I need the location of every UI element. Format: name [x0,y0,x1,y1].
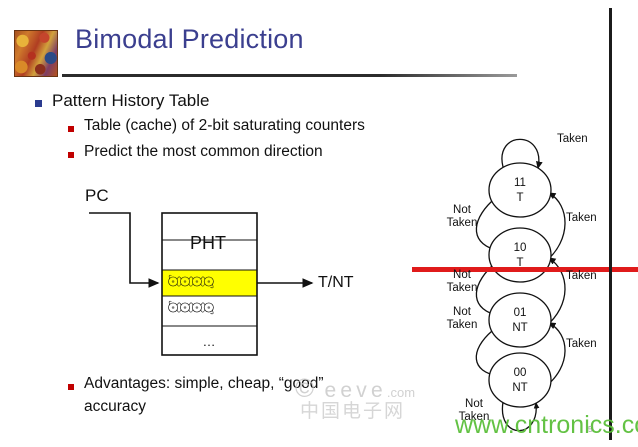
watermark-cn-text: 中国电子网 [300,396,405,423]
fsm-label-taken-2: Taken [440,282,484,295]
slide-right-rule [609,8,612,440]
fsm-label-taken-lower: Taken [566,338,597,351]
fsm-label-not-taken-mid: Not Taken [440,269,484,295]
pht-ellipsis: … [203,334,216,349]
fsm-state-10-pred: T [500,257,540,270]
fsm-label-not-4: Not [452,398,496,411]
fsm-state-10-bits: 10 [500,242,540,255]
fsm-label-not-taken-lower: Not Taken [440,306,484,332]
fsm-state-11 [489,163,551,217]
fsm-label-taken-3: Taken [440,319,484,332]
pc-wire [89,213,158,283]
pht-selected-row[interactable] [162,270,257,296]
fsm-label-not-taken-upper: Not Taken [440,204,484,230]
fsm-label-not-1: Not [440,204,484,217]
fsm-label-taken-upper: Taken [566,212,597,225]
fsm-state-01 [489,293,551,347]
fsm-state-11-pred: T [500,192,540,205]
slide-canvas: Bimodal Prediction Pattern History Table… [0,0,638,447]
fsm-state-00-bits: 00 [500,367,540,380]
fsm-label-not-2: Not [440,269,484,282]
page-number: 5 [588,425,592,434]
watermark-primary: www.cntronics.com [455,411,638,440]
fsm-state-00-pred: NT [500,382,540,395]
fsm-label-not-3: Not [440,306,484,319]
fsm-label-taken-top: Taken [557,133,588,146]
pht-table: … [162,213,257,355]
fsm-state-10 [489,228,551,282]
fsm-state-00 [489,353,551,407]
fsm-label-taken-mid: Taken [566,270,597,283]
fsm-state-01-pred: NT [500,322,540,335]
fsm-label-taken-1: Taken [440,217,484,230]
fsm-state-01-bits: 01 [500,307,540,320]
fsm-state-11-bits: 11 [500,177,540,190]
